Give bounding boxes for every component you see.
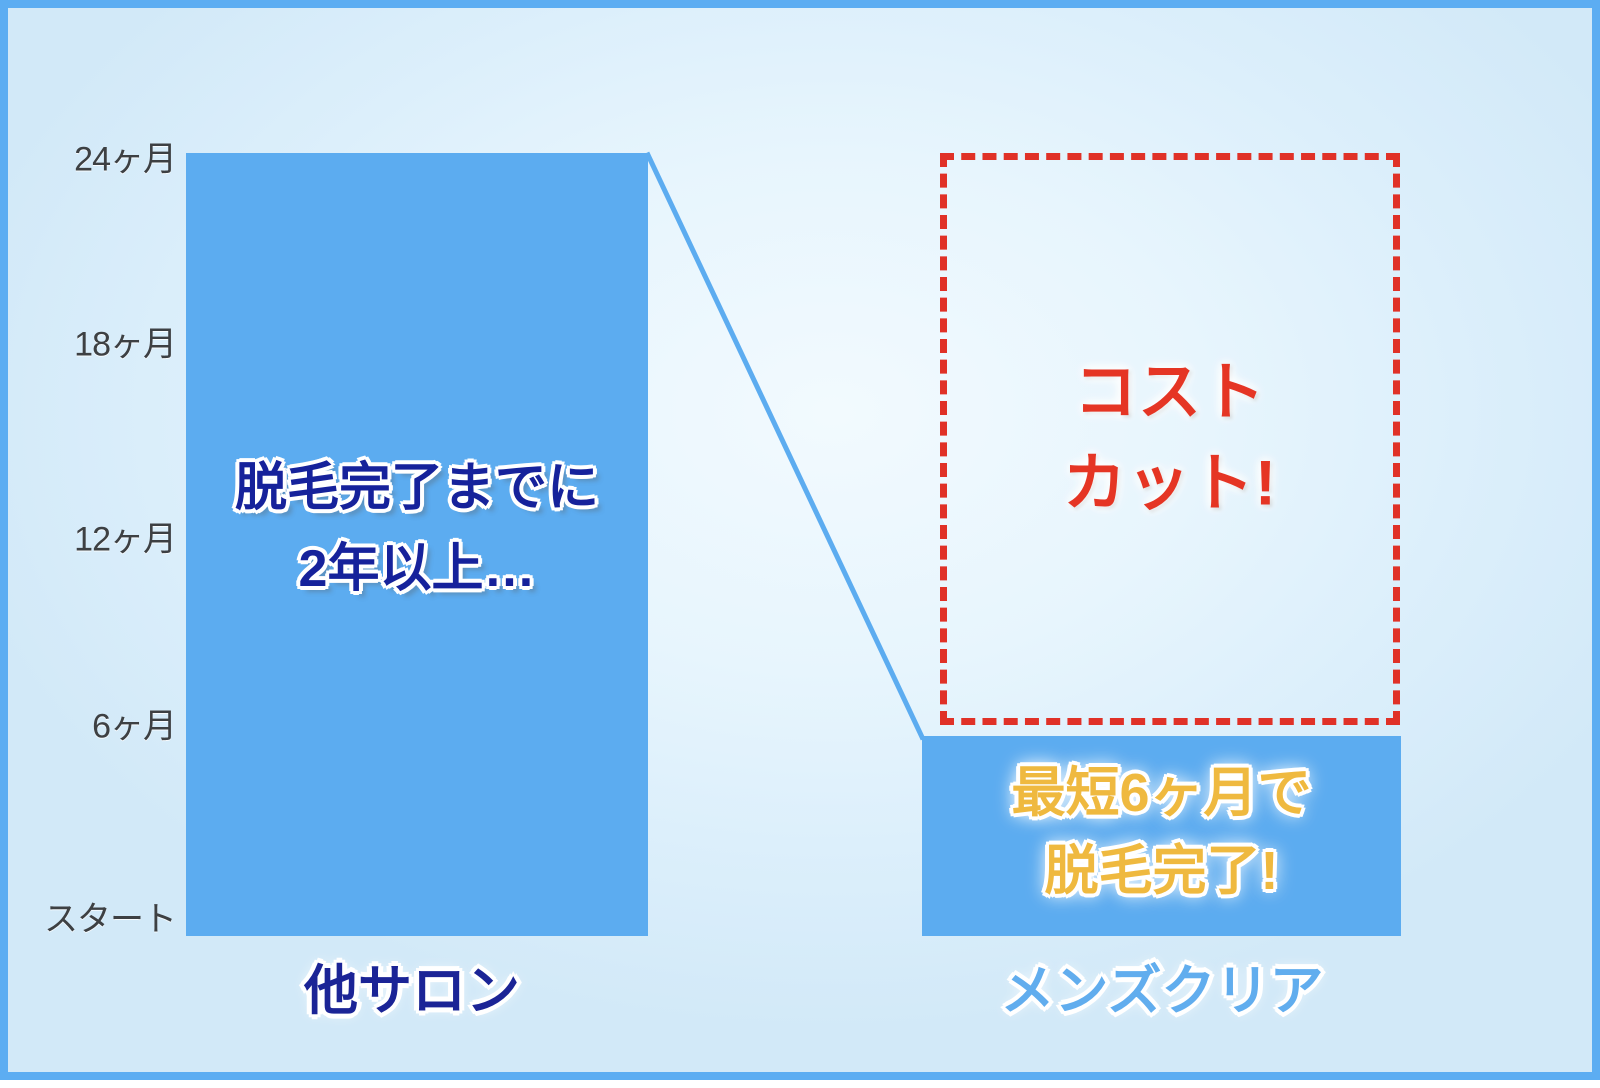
bar-mens-clear-annotation: 最短6ヶ月で 脱毛完了! — [922, 754, 1401, 911]
cost-cut-line1: コスト — [947, 348, 1393, 439]
category-label-mens-clear: メンズクリア — [1001, 946, 1324, 1025]
bar-mens-clear-annotation-line2: 脱毛完了! — [922, 832, 1401, 910]
bar-mens-clear-annotation-line1: 最短6ヶ月で — [922, 754, 1401, 832]
plot-area: 24ヶ月 18ヶ月 12ヶ月 6ヶ月 スタート 脱毛完了までに 2年以上… 最短… — [8, 8, 1592, 1072]
y-axis-tick-18: 18ヶ月 — [28, 317, 176, 366]
bar-other-salon-annotation-line1: 脱毛完了までに — [186, 448, 648, 529]
y-axis-tick-24: 24ヶ月 — [28, 132, 176, 181]
bar-other-salon: 脱毛完了までに 2年以上… — [186, 153, 648, 936]
bar-other-salon-annotation: 脱毛完了までに 2年以上… — [186, 448, 648, 609]
bar-mens-clear: 最短6ヶ月で 脱毛完了! — [922, 736, 1401, 936]
bar-other-salon-annotation-line2: 2年以上… — [186, 529, 648, 610]
category-label-other-salon: 他サロン — [304, 946, 520, 1025]
cost-cut-callout-text: コスト カット! — [947, 348, 1393, 531]
y-axis-tick-6: 6ヶ月 — [28, 699, 176, 748]
y-axis-tick-start: スタート — [28, 892, 176, 941]
y-axis-tick-12: 12ヶ月 — [28, 512, 176, 561]
cost-cut-callout-box: コスト カット! — [940, 153, 1400, 725]
infographic-chart: 24ヶ月 18ヶ月 12ヶ月 6ヶ月 スタート 脱毛完了までに 2年以上… 最短… — [0, 0, 1600, 1080]
cost-cut-line2: カット! — [947, 439, 1393, 530]
